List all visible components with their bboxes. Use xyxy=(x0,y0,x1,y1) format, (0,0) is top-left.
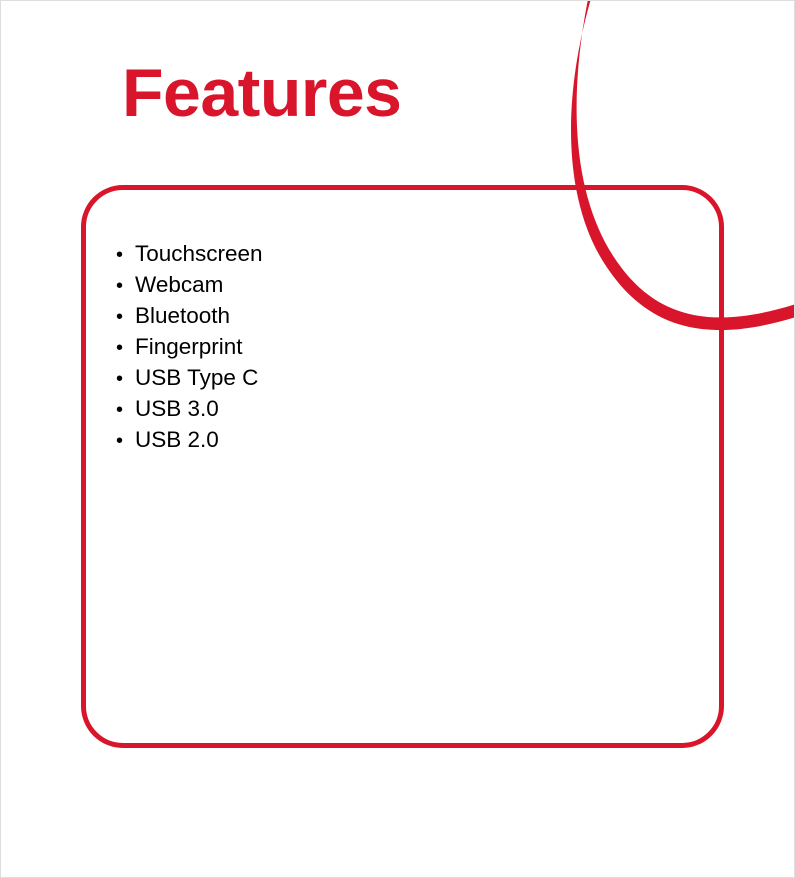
list-item: • Touchscreen xyxy=(116,238,263,269)
bullet-icon: • xyxy=(116,426,135,457)
bullet-icon: • xyxy=(116,271,135,302)
list-item-label: Fingerprint xyxy=(135,331,243,362)
bullet-icon: • xyxy=(116,364,135,395)
list-item-label: USB 2.0 xyxy=(135,424,219,455)
features-list: • Touchscreen • Webcam • Bluetooth • Fin… xyxy=(116,238,263,455)
list-item: • USB Type C xyxy=(116,362,263,393)
list-item-label: Webcam xyxy=(135,269,223,300)
bullet-icon: • xyxy=(116,302,135,333)
list-item: • Webcam xyxy=(116,269,263,300)
list-item: • Fingerprint xyxy=(116,331,263,362)
bullet-icon: • xyxy=(116,333,135,364)
bullet-icon: • xyxy=(116,395,135,426)
features-content-box: • Touchscreen • Webcam • Bluetooth • Fin… xyxy=(81,185,724,748)
bullet-icon: • xyxy=(116,240,135,271)
list-item-label: Bluetooth xyxy=(135,300,230,331)
slide-canvas: Features • Touchscreen • Webcam • Blueto… xyxy=(0,0,795,878)
page-title: Features xyxy=(122,59,401,127)
list-item-label: USB 3.0 xyxy=(135,393,219,424)
list-item: • Bluetooth xyxy=(116,300,263,331)
list-item: • USB 3.0 xyxy=(116,393,263,424)
list-item-label: USB Type C xyxy=(135,362,258,393)
list-item: • USB 2.0 xyxy=(116,424,263,455)
list-item-label: Touchscreen xyxy=(135,238,263,269)
